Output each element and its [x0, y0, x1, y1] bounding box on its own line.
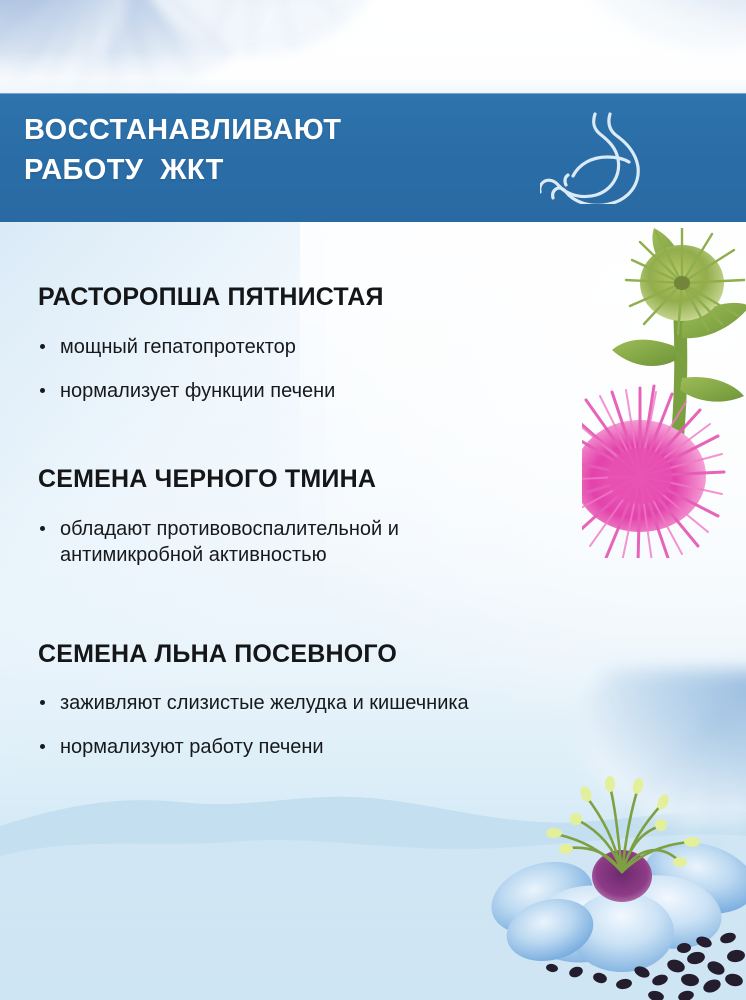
section-heading: РАСТОРОПША ПЯТНИСТАЯ — [38, 284, 746, 312]
section-heading: СЕМЕНА ЛЬНА ПОСЕВНОГО — [38, 641, 746, 669]
section-black-cumin: СЕМЕНА ЧЕРНОГО ТМИНА обладают противовос… — [0, 466, 746, 568]
banner-title: ВОССТАНАВЛИВАЮТ РАБОТУ ЖКТ — [24, 110, 341, 190]
benefit-list: заживляют слизистые желудка и кишечника … — [0, 690, 746, 761]
list-item: мощный гепатопротектор — [38, 334, 580, 360]
list-item: нормализуют работу печени — [38, 734, 580, 760]
section-heading: СЕМЕНА ЧЕРНОГО ТМИНА — [38, 466, 746, 494]
content-area: РАСТОРОПША ПЯТНИСТАЯ мощный гепатопротек… — [0, 222, 746, 761]
section-milk-thistle: РАСТОРОПША ПЯТНИСТАЯ мощный гепатопротек… — [0, 284, 746, 404]
benefit-list: мощный гепатопротектор нормализует функц… — [0, 334, 746, 405]
stomach-icon — [540, 108, 658, 204]
list-item: нормализует функции печени — [38, 378, 580, 404]
benefit-list: обладают противовоспалительной и антимик… — [0, 516, 746, 569]
list-item: обладают противовоспалительной и антимик… — [38, 516, 530, 569]
product-infographic-poster: ВОССТАНАВЛИВАЮТ РАБОТУ ЖКТ — [0, 0, 746, 1000]
section-flax-seed: СЕМЕНА ЛЬНА ПОСЕВНОГО заживляют слизисты… — [0, 641, 746, 761]
list-item: заживляют слизистые желудка и кишечника — [38, 690, 470, 716]
